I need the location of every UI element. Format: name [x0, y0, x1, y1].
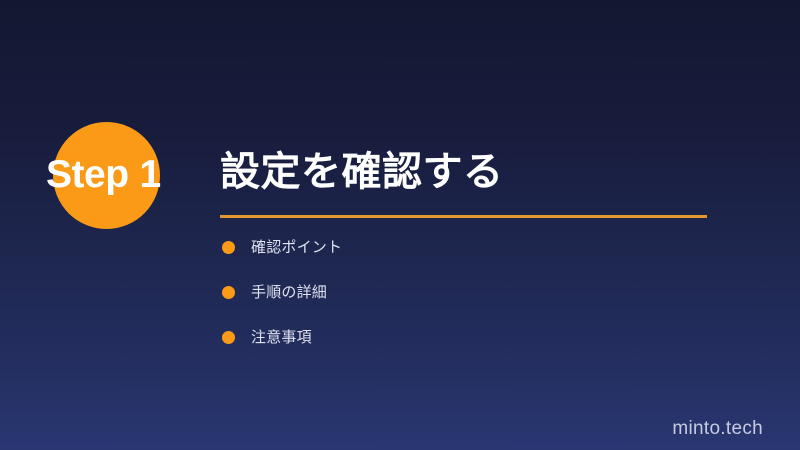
- bullet-dot-icon: [222, 331, 235, 344]
- list-item: 手順の詳細: [222, 284, 342, 301]
- title-block: 設定を確認する: [220, 146, 707, 218]
- slide-canvas: Step1 設定を確認する 確認ポイント 手順の詳細 注意事項 minto.te…: [0, 0, 800, 450]
- list-item: 注意事項: [222, 329, 342, 346]
- bullet-dot-icon: [222, 286, 235, 299]
- page-title: 設定を確認する: [220, 146, 707, 198]
- list-item: 確認ポイント: [222, 239, 342, 256]
- step-number: 1: [140, 153, 161, 196]
- bullet-dot-icon: [222, 241, 235, 254]
- bullet-list: 確認ポイント 手順の詳細 注意事項: [222, 239, 342, 346]
- title-divider: [220, 215, 707, 218]
- step-label: Step1: [46, 152, 161, 198]
- list-item-label: 手順の詳細: [251, 284, 327, 301]
- footer-brand: minto.tech: [672, 418, 763, 440]
- list-item-label: 確認ポイント: [251, 239, 342, 256]
- list-item-label: 注意事項: [251, 329, 312, 346]
- step-word: Step: [46, 153, 129, 196]
